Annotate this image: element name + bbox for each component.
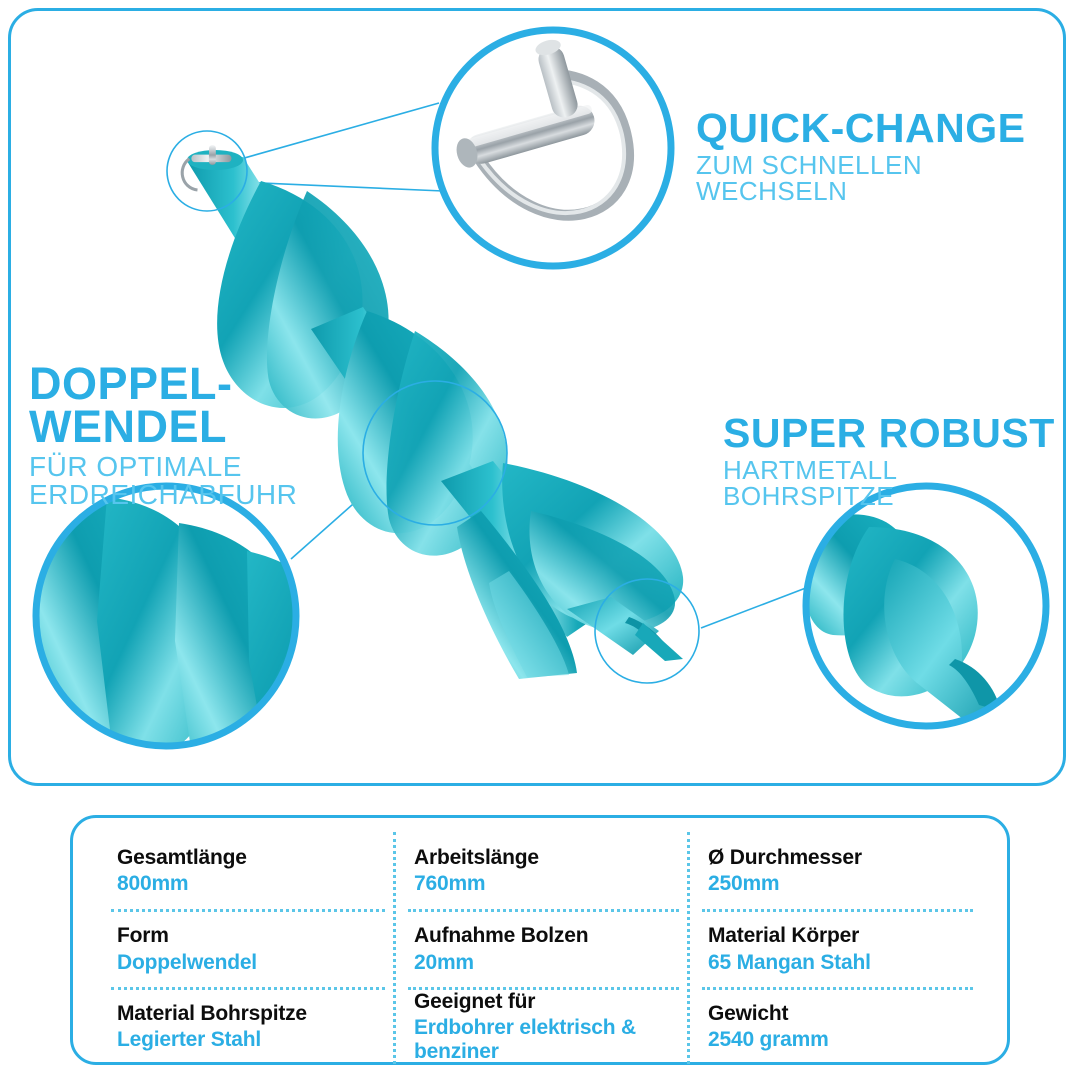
spec-value: 800mm <box>117 872 385 896</box>
spec-column-3: Ø Durchmesser 250mm Material Körper 65 M… <box>687 832 981 1064</box>
spec-value: 65 Mangan Stahl <box>708 951 973 975</box>
spec-value: 760mm <box>414 872 679 896</box>
callout-subtitle-super-robust: HARTMETALL BOHRSPITZE <box>723 457 1063 509</box>
spec-label: Ø Durchmesser <box>708 846 973 870</box>
spec-label: Gesamtlänge <box>117 846 385 870</box>
spec-cell: Gesamtlänge 800mm <box>111 832 385 909</box>
spec-cell: Form Doppelwendel <box>111 909 385 986</box>
spec-value: Legierter Stahl <box>117 1028 385 1052</box>
spec-cell: Ø Durchmesser 250mm <box>702 832 973 909</box>
callout-quick-change: QUICK-CHANGE ZUM SCHNELLEN WECHSELN <box>696 109 1063 204</box>
callout-subtitle-quick-change: ZUM SCHNELLEN WECHSELN <box>696 152 1063 204</box>
hero-card: QUICK-CHANGE ZUM SCHNELLEN WECHSELN DOPP… <box>8 8 1066 786</box>
spec-label: Material Bohrspitze <box>117 1002 385 1026</box>
spec-label: Geeignet für <box>414 990 679 1014</box>
product-illustration-stage: QUICK-CHANGE ZUM SCHNELLEN WECHSELN DOPP… <box>11 11 1063 783</box>
spec-cell: Aufnahme Bolzen 20mm <box>408 909 679 986</box>
spec-cell: Arbeitslänge 760mm <box>408 832 679 909</box>
spec-table-card: Gesamtlänge 800mm Form Doppelwendel Mate… <box>70 815 1010 1065</box>
spec-label: Gewicht <box>708 1002 973 1026</box>
spec-label: Form <box>117 924 385 948</box>
callout-title-doppel-wendel: DOPPEL- WENDEL <box>29 363 297 449</box>
callout-circle-super-robust <box>804 486 1046 727</box>
callout-doppel-wendel: DOPPEL- WENDEL FÜR OPTIMALE ERDREICHABFU… <box>29 363 297 509</box>
callout-subtitle-doppel-wendel: FÜR OPTIMALE ERDREICHABFUHR <box>29 453 297 509</box>
spec-value: Doppelwendel <box>117 951 385 975</box>
callout-title-super-robust: SUPER ROBUST <box>723 414 1063 453</box>
spec-value: 20mm <box>414 951 679 975</box>
spec-label: Material Körper <box>708 924 973 948</box>
spec-value: 250mm <box>708 872 973 896</box>
spec-label: Aufnahme Bolzen <box>414 924 679 948</box>
spec-column-2: Arbeitslänge 760mm Aufnahme Bolzen 20mm … <box>393 832 687 1064</box>
spec-column-1: Gesamtlänge 800mm Form Doppelwendel Mate… <box>99 832 393 1064</box>
spec-cell: Gewicht 2540 gramm <box>702 987 973 1064</box>
spec-value: Erdbohrer elektrisch & benziner <box>414 1016 679 1064</box>
spec-label: Arbeitslänge <box>414 846 679 870</box>
callout-super-robust: SUPER ROBUST HARTMETALL BOHRSPITZE <box>723 414 1063 509</box>
callout-title-quick-change: QUICK-CHANGE <box>696 109 1063 148</box>
spec-table: Gesamtlänge 800mm Form Doppelwendel Mate… <box>99 832 981 1052</box>
spec-cell: Material Körper 65 Mangan Stahl <box>702 909 973 986</box>
callout-circle-quick-change <box>434 27 671 266</box>
callout-circle-doppel-wendel <box>36 481 359 786</box>
spec-cell: Material Bohrspitze Legierter Stahl <box>111 987 385 1064</box>
spec-value: 2540 gramm <box>708 1028 973 1052</box>
spec-cell: Geeignet für Erdbohrer elektrisch & benz… <box>408 987 679 1064</box>
